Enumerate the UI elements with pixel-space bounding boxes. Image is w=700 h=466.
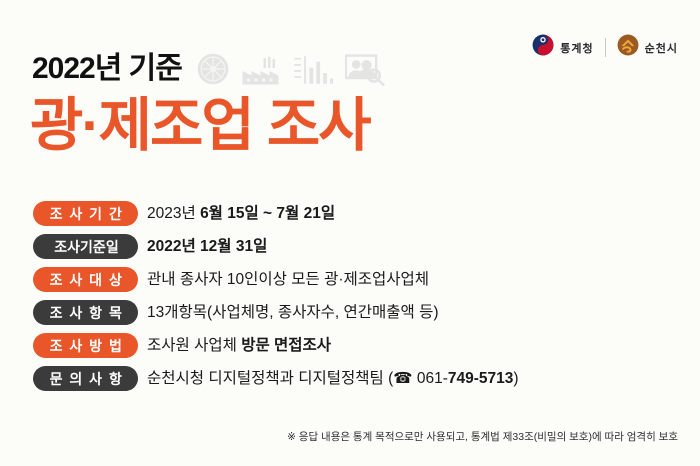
info-row: 문 의 사 항 순천시청 디지털정책과 디지털정책팀 (☎ 061-749-57… — [33, 366, 519, 391]
info-label-survey-period: 조 사 기 간 — [33, 201, 138, 226]
info-value-survey-method: 조사원 사업체 방문 면접조사 — [147, 338, 331, 354]
info-value-survey-period: 2023년 6월 15일 ~ 7월 21일 — [147, 206, 335, 222]
info-text-bold: 방문 면접조사 — [241, 337, 331, 354]
info-label-contact: 문 의 사 항 — [33, 366, 138, 391]
suncheon-emblem-icon — [617, 34, 639, 61]
statistics-korea-logo: 통계청 — [532, 34, 593, 61]
info-text-plain: 13개항목(사업체명, 종사자수, 연간매출액 등) — [147, 304, 439, 321]
info-text-tail: ) — [513, 370, 518, 387]
statistics-korea-label: 통계청 — [560, 40, 593, 56]
info-label-survey-items: 조 사 항 목 — [33, 300, 138, 325]
gear-icon — [196, 52, 230, 86]
info-value-survey-items: 13개항목(사업체명, 종사자수, 연간매출액 등) — [147, 305, 439, 321]
survey-info-list: 조 사 기 간 2023년 6월 15일 ~ 7월 21일 조사기준일 2022… — [33, 201, 519, 391]
logo-bar: 통계청 순천시 — [532, 34, 678, 61]
info-text-bold: 6월 15일 ~ 7월 21일 — [200, 205, 335, 222]
title-kicker: 2022년 기준 — [32, 54, 182, 84]
phone-number: 749-5713 — [448, 370, 514, 387]
decorative-icon-group — [196, 52, 385, 86]
people-search-icon — [345, 54, 385, 86]
logo-divider — [605, 38, 606, 57]
info-row: 조 사 항 목 13개항목(사업체명, 종사자수, 연간매출액 등) — [33, 300, 519, 325]
info-label-reference-date: 조사기준일 — [33, 234, 138, 259]
info-text-plain: 순천시청 디지털정책과 디지털정책팀 (☎ 061- — [147, 370, 448, 387]
info-row: 조 사 기 간 2023년 6월 15일 ~ 7월 21일 — [33, 201, 519, 226]
info-row: 조사기준일 2022년 12월 31일 — [33, 234, 519, 259]
info-value-survey-target: 관내 종사자 10인이상 모든 광·제조업사업체 — [147, 272, 429, 288]
info-label-survey-method: 조 사 방 법 — [33, 333, 138, 358]
bar-chart-icon — [294, 54, 334, 86]
info-row: 조 사 방 법 조사원 사업체 방문 면접조사 — [33, 333, 519, 358]
info-label-survey-target: 조 사 대 상 — [33, 267, 138, 292]
info-value-reference-date: 2022년 12월 31일 — [147, 239, 267, 255]
taegeuk-icon — [532, 34, 554, 61]
info-text-plain: 2023년 — [147, 205, 200, 222]
suncheon-city-logo: 순천시 — [617, 34, 678, 61]
info-text-bold: 2022년 12월 31일 — [147, 238, 267, 255]
title-row: 2022년 기준 — [32, 52, 385, 86]
privacy-footnote: ※ 응답 내용은 통계 목적으로만 사용되고, 통계법 제33조(비밀의 보호)… — [287, 429, 678, 444]
info-text-plain: 조사원 사업체 — [147, 337, 241, 354]
info-row: 조 사 대 상 관내 종사자 10인이상 모든 광·제조업사업체 — [33, 267, 519, 292]
suncheon-city-label: 순천시 — [645, 40, 678, 56]
info-text-plain: 관내 종사자 10인이상 모든 광·제조업사업체 — [147, 271, 429, 288]
info-value-contact: 순천시청 디지털정책과 디지털정책팀 (☎ 061-749-5713) — [147, 371, 519, 387]
page-title: 광·제조업 조사 — [30, 97, 370, 155]
factory-icon — [241, 56, 283, 86]
